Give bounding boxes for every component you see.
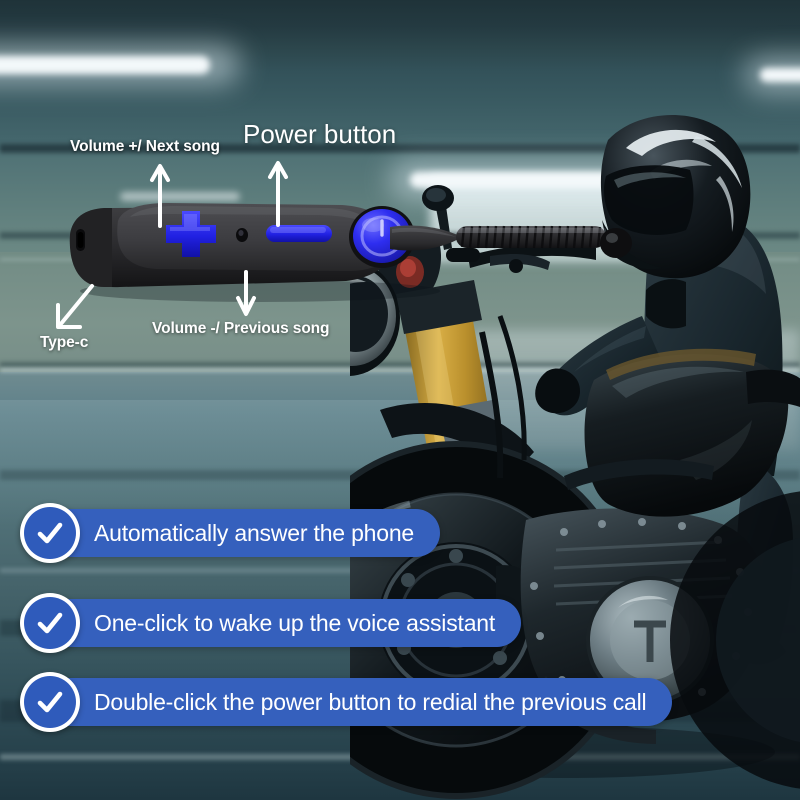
- check-icon: [24, 507, 76, 559]
- feature-pill: Double-click the power button to redial …: [22, 678, 672, 726]
- product-marketing-image: Volume +/ Next song Power button Volume …: [0, 0, 800, 800]
- callout-label-volume-down: Volume -/ Previous song: [152, 320, 329, 338]
- check-icon: [24, 676, 76, 728]
- feature-text: Automatically answer the phone: [22, 520, 440, 547]
- arrow-up-power-button: [268, 155, 288, 227]
- check-badge: [20, 503, 80, 563]
- callout-label-volume-up: Volume +/ Next song: [70, 138, 220, 156]
- ceiling-light-tube: [0, 56, 210, 74]
- feature-text: Double-click the power button to redial …: [22, 689, 672, 716]
- headset-control-module: [60, 195, 640, 305]
- arrow-diagonal-type-c: [50, 283, 96, 335]
- check-icon-glyph: [33, 685, 67, 719]
- check-icon-glyph: [33, 516, 67, 550]
- callout-label-type-c: Type-c: [40, 334, 88, 352]
- check-badge: [20, 672, 80, 732]
- check-badge: [20, 593, 80, 653]
- feature-pill: Automatically answer the phone: [22, 509, 440, 557]
- check-icon: [24, 597, 76, 649]
- gooseneck-boom: [456, 226, 632, 258]
- feature-text: One-click to wake up the voice assistant: [22, 610, 521, 637]
- arrow-down-volume-minus: [236, 270, 256, 318]
- arrow-up-volume-plus: [150, 158, 170, 228]
- minus-button: [266, 225, 332, 242]
- callout-label-power-button: Power button: [243, 119, 396, 150]
- check-icon-glyph: [33, 606, 67, 640]
- feature-pill: One-click to wake up the voice assistant: [22, 599, 521, 647]
